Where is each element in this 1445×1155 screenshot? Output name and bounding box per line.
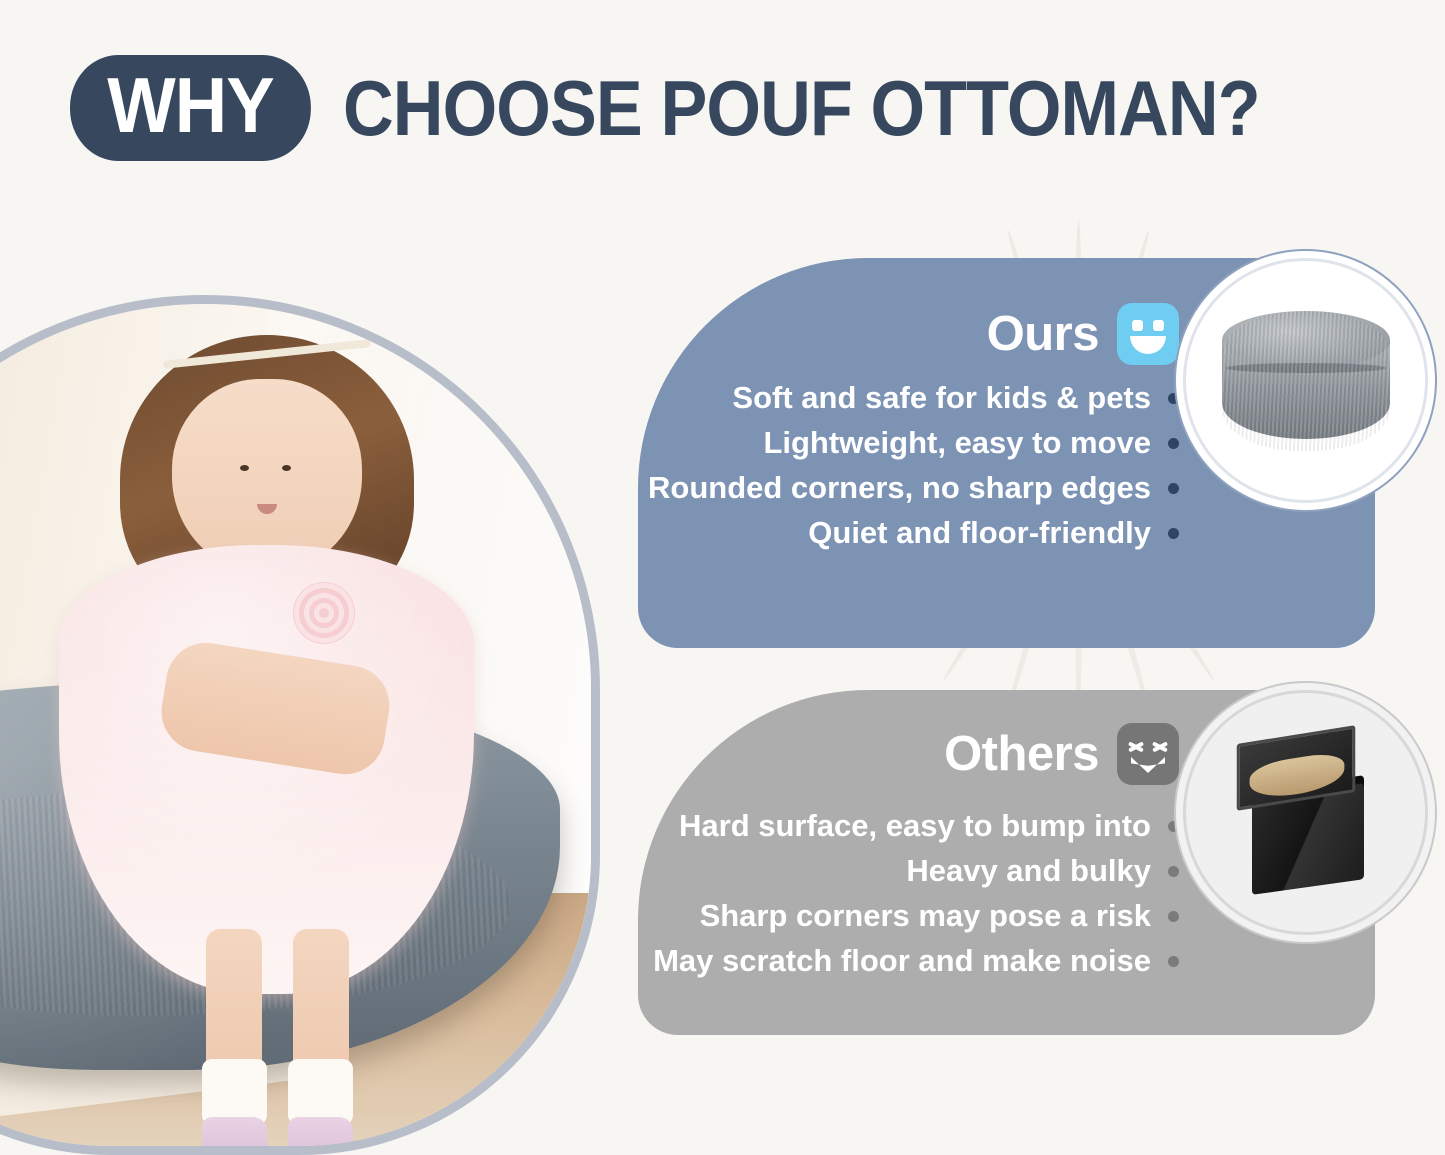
bullet-text: Lightweight, easy to move (763, 425, 1151, 461)
bullet-text: Hard surface, easy to bump into (679, 808, 1151, 844)
list-item: Sharp corners may pose a risk (700, 898, 1179, 934)
bullet-dot-icon (1168, 483, 1179, 494)
bullet-dot-icon (1168, 821, 1179, 832)
bullet-text: Soft and safe for kids & pets (732, 380, 1151, 416)
product-image-others (1183, 690, 1428, 935)
photo-girl (51, 321, 483, 1045)
bullet-dot-icon (1168, 528, 1179, 539)
title-text: CHOOSE POUF OTTOMAN? (343, 66, 1260, 150)
lifestyle-photo (0, 295, 600, 1155)
bullet-text: Sharp corners may pose a risk (700, 898, 1151, 934)
bullet-dot-icon (1168, 393, 1179, 404)
list-item: Soft and safe for kids & pets (732, 380, 1179, 416)
why-badge: WHY (70, 55, 311, 161)
panel-label-others: Others (944, 726, 1099, 782)
list-item: Heavy and bulky (906, 853, 1179, 889)
bullet-dot-icon (1168, 438, 1179, 449)
sad-face-icon (1117, 723, 1179, 785)
list-item: Hard surface, easy to bump into (679, 808, 1179, 844)
page-title: WHY CHOOSE POUF OTTOMAN? (70, 55, 1362, 161)
list-item: May scratch floor and make noise (653, 943, 1179, 979)
bullet-text: Rounded corners, no sharp edges (648, 470, 1151, 506)
list-item: Quiet and floor-friendly (808, 515, 1179, 551)
happy-face-icon (1117, 303, 1179, 365)
gray-pouf-ottoman-illustration (1222, 311, 1390, 451)
bullet-dot-icon (1168, 866, 1179, 877)
list-item: Rounded corners, no sharp edges (648, 470, 1179, 506)
bullet-text: Quiet and floor-friendly (808, 515, 1151, 551)
bullet-dot-icon (1168, 956, 1179, 967)
bullet-text: May scratch floor and make noise (653, 943, 1151, 979)
panel-label-ours: Ours (987, 306, 1099, 362)
product-image-ours (1183, 258, 1428, 503)
list-item: Lightweight, easy to move (763, 425, 1179, 461)
black-box-ottoman-illustration (1218, 733, 1393, 893)
bullet-dot-icon (1168, 911, 1179, 922)
bullet-text: Heavy and bulky (906, 853, 1151, 889)
